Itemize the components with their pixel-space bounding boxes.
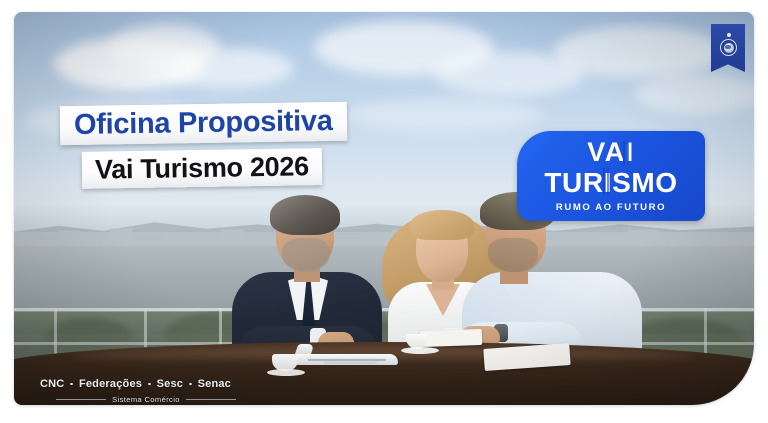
rail-post [704, 308, 707, 354]
cloud [344, 98, 544, 132]
cloud [164, 48, 294, 88]
headline-band-secondary: Vai Turismo 2026 [82, 149, 322, 190]
globe-landmass [725, 45, 731, 50]
hair-fringe [410, 210, 474, 240]
separator-dot [70, 383, 73, 386]
rule-left [56, 399, 106, 400]
cloud [554, 26, 724, 78]
partner-logos: CNC Federações Sesc Senac Sistema Comérc… [40, 378, 236, 404]
headline-block: Oficina Propositiva Vai Turismo 2026 [60, 104, 347, 188]
headline-band-primary: Oficina Propositiva [60, 102, 347, 146]
person-left-businessman [232, 200, 382, 360]
logo-tagline: RUMO AO FUTURO [556, 202, 666, 213]
partner-logo-federacoes: Federações [79, 378, 142, 390]
coffee-cup [406, 334, 428, 349]
logo-letter-motif [607, 168, 609, 195]
system-label: Sistema Comércio [112, 395, 180, 404]
page-subtitle: Vai Turismo 2026 [95, 152, 309, 186]
separator-dot [148, 383, 151, 386]
partner-logo-senac: Senac [198, 378, 231, 390]
logo-letter-motif [603, 168, 605, 195]
logo-line-2: TURISMO [544, 168, 677, 197]
banner-canvas: Oficina Propositiva Vai Turismo 2026 VAI… [0, 0, 768, 423]
beard [282, 238, 330, 272]
seal-top-dot [727, 33, 731, 37]
rail-post [54, 308, 57, 354]
logo-letter-motif [627, 141, 629, 165]
system-lockup: Sistema Comércio [40, 395, 236, 404]
vai-turismo-logo-badge: VAI TURISMO RUMO AO FUTURO [517, 131, 705, 221]
beard [488, 238, 538, 272]
logo-letter-motif [623, 141, 625, 165]
partner-logo-cnc: CNC [40, 378, 64, 390]
coffee-cup [272, 354, 298, 371]
cloud [634, 74, 754, 114]
airplane-stripe [308, 359, 386, 361]
partner-logo-sesc: Sesc [157, 378, 184, 390]
hair [270, 195, 340, 235]
document [420, 329, 483, 347]
promo-banner: Oficina Propositiva Vai Turismo 2026 VAI… [14, 12, 754, 405]
rule-right [186, 399, 236, 400]
page-title: Oficina Propositiva [74, 105, 333, 142]
separator-dot [189, 383, 192, 386]
model-airplane [294, 342, 398, 368]
logo-line-1: VAI [587, 139, 635, 166]
